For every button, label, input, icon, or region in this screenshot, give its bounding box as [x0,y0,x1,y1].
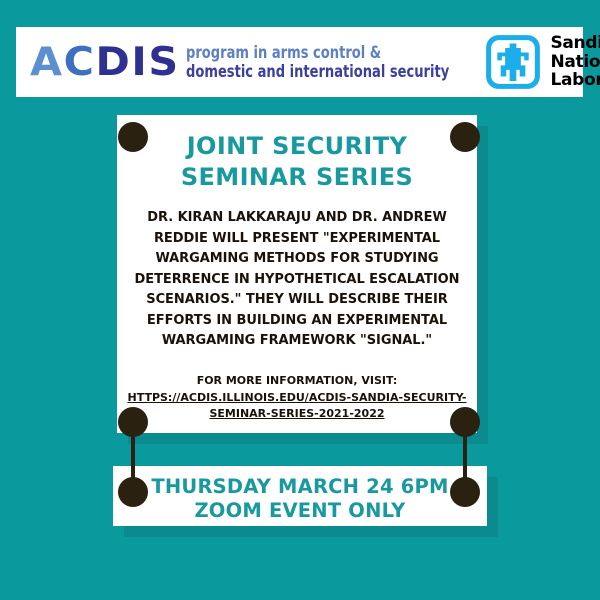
pin-dot-top-left [118,122,148,152]
sandia-logo-lockup: Sandia National Laboratories [485,34,600,90]
acdis-letter-c: C [64,40,96,85]
acdis-logo-lockup: ACDIS program in arms control & domestic… [30,43,485,82]
acdis-letter-d: D [96,40,132,85]
more-information-block: FOR MORE INFORMATION, VISIT: HTTPS://ACD… [127,373,467,423]
sandia-name-line-2: National [550,53,600,72]
pin-dot-bottom-left [118,407,148,437]
more-information-label: FOR MORE INFORMATION, VISIT: [127,373,467,390]
pin-dot-card-left [118,477,148,507]
acdis-letter-a: A [30,40,64,85]
acdis-wordmark: ACDIS [30,43,180,82]
sandia-thunderbird-icon [485,34,541,90]
seminar-title: JOINT SECURITY SEMINAR SERIES [117,131,477,193]
sponsor-header-bar: ACDIS program in arms control & domestic… [16,27,583,97]
sandia-name-line-3: Laboratories [550,71,600,90]
pin-dot-card-right [450,477,480,507]
sandia-name-line-1: Sandia [550,34,600,53]
acdis-tagline: program in arms control & domestic and i… [186,43,449,81]
acdis-tagline-line-2: domestic and international security [186,62,449,81]
seminar-title-line-1: JOINT SECURITY [117,131,477,162]
acdis-letter-i: I [131,40,148,85]
seminar-series-url[interactable]: HTTPS://ACDIS.ILLINOIS.EDU/ACDIS-SANDIA-… [127,390,467,423]
event-details-card: THURSDAY MARCH 24 6PM ZOOM EVENT ONLY [113,466,487,526]
event-format: ZOOM EVENT ONLY [113,499,487,523]
acdis-letter-s: S [148,40,179,85]
seminar-description: DR. KIRAN LAKKARAJU AND DR. ANDREW REDDI… [133,208,461,352]
event-datetime: THURSDAY MARCH 24 6PM [113,475,487,499]
seminar-title-line-2: SEMINAR SERIES [117,162,477,193]
poster-canvas: ACDIS program in arms control & domestic… [0,0,600,600]
event-details-text: THURSDAY MARCH 24 6PM ZOOM EVENT ONLY [113,475,487,523]
sandia-wordmark: Sandia National Laboratories [550,34,600,90]
pin-dot-bottom-right [450,407,480,437]
pin-dot-top-right [450,122,480,152]
acdis-tagline-line-1: program in arms control & [186,43,449,62]
main-announcement-card: JOINT SECURITY SEMINAR SERIES DR. KIRAN … [117,115,477,433]
